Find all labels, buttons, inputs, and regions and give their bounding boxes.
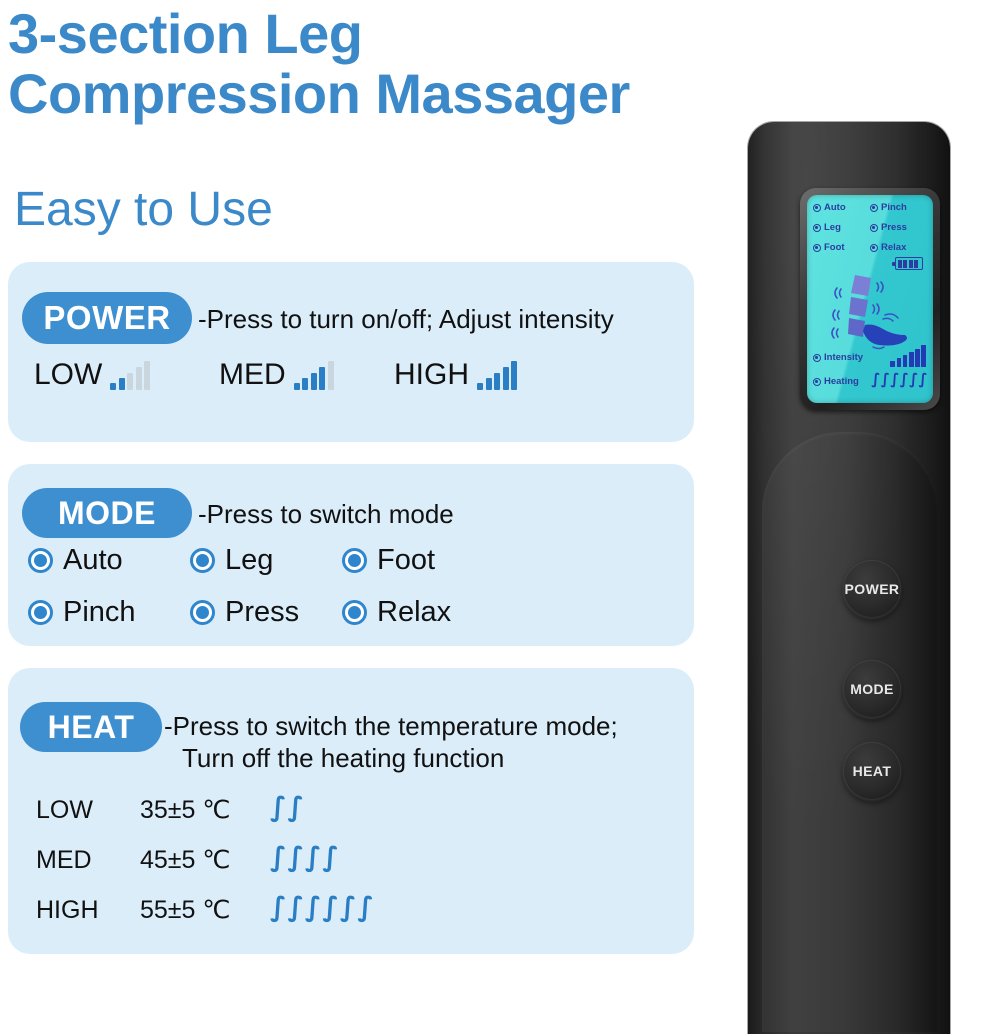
radio-icon (28, 600, 53, 625)
heat-temperature-value: 55±5 ℃ (140, 896, 230, 924)
lcd-mode-auto: Auto (813, 203, 846, 213)
lcd-heating-waves-icon: ∫∫∫∫∫∫ (871, 371, 928, 387)
radio-icon (870, 244, 878, 252)
intensity-high-bars (477, 360, 517, 390)
intensity-low-bars (110, 360, 150, 390)
mode-option-leg[interactable]: Leg (190, 546, 273, 575)
mode-badge[interactable]: MODE (22, 488, 192, 538)
heat-temperature-value: 35±5 ℃ (140, 796, 230, 824)
remote-lower-panel (762, 432, 938, 1032)
heat-temperature-value: 45±5 ℃ (140, 846, 230, 874)
lcd-heating-row: Heating (813, 377, 859, 387)
lcd-bezel: Auto Leg Foot Pinch Press Relax (800, 188, 940, 410)
leg-massage-illustration (821, 269, 929, 355)
lcd-mode-press: Press (870, 223, 907, 233)
heat-description: -Press to switch the temperature mode; T… (164, 710, 694, 774)
mode-option-label: Pinch (63, 598, 136, 627)
mode-option-press[interactable]: Press (190, 598, 299, 627)
radio-icon (813, 354, 821, 362)
radio-icon (190, 548, 215, 573)
mode-option-auto[interactable]: Auto (28, 546, 123, 575)
lcd-mode-label: Press (881, 223, 907, 233)
heat-row: HIGH 55±5 ℃ ∫∫∫∫∫∫ (36, 896, 436, 946)
lcd-intensity-label: Intensity (824, 353, 863, 363)
remote-mode-button[interactable]: MODE (843, 660, 901, 718)
intensity-med-bars (294, 360, 334, 390)
intensity-med-label: MED (219, 360, 286, 390)
lcd-mode-foot: Foot (813, 243, 845, 253)
heat-level-label: HIGH (36, 896, 99, 924)
heat-badge[interactable]: HEAT (20, 702, 162, 752)
intensity-level-med: MED (219, 360, 334, 390)
intensity-level-high: HIGH (394, 360, 517, 390)
intensity-levels: LOW MED HIGH (34, 360, 654, 404)
radio-icon (28, 548, 53, 573)
mode-option-label: Foot (377, 546, 435, 575)
heat-wave-icon: ∫∫∫∫ (270, 842, 340, 874)
mode-option-label: Leg (225, 546, 273, 575)
power-badge[interactable]: POWER (22, 292, 192, 344)
lcd-screen: Auto Leg Foot Pinch Press Relax (807, 195, 933, 403)
heat-level-label: LOW (36, 796, 93, 824)
intensity-level-low: LOW (34, 360, 150, 390)
lcd-mode-label: Relax (881, 243, 906, 253)
lcd-intensity-row: Intensity (813, 353, 863, 363)
radio-icon (342, 548, 367, 573)
lcd-mode-label: Pinch (881, 203, 907, 213)
mode-option-label: Auto (63, 546, 123, 575)
radio-icon (190, 600, 215, 625)
mode-option-foot[interactable]: Foot (342, 546, 435, 575)
lcd-mode-pinch: Pinch (870, 203, 907, 213)
radio-icon (813, 244, 821, 252)
mode-option-label: Press (225, 598, 299, 627)
heat-wave-icon: ∫∫∫∫∫∫ (270, 892, 375, 924)
mode-description: -Press to switch mode (198, 498, 454, 530)
lcd-mode-label: Foot (824, 243, 845, 253)
page-title: 3-section Leg Compression Massager (8, 4, 708, 124)
intensity-low-label: LOW (34, 360, 102, 390)
radio-icon (342, 600, 367, 625)
intensity-high-label: HIGH (394, 360, 469, 390)
lcd-mode-relax: Relax (870, 243, 906, 253)
heat-wave-icon: ∫∫ (270, 792, 305, 824)
lcd-mode-leg: Leg (813, 223, 841, 233)
remote-heat-button[interactable]: HEAT (843, 742, 901, 800)
power-description: -Press to turn on/off; Adjust intensity (198, 303, 614, 335)
radio-icon (870, 204, 878, 212)
heat-row: LOW 35±5 ℃ ∫∫ (36, 796, 436, 846)
section-subtitle: Easy to Use (14, 182, 273, 238)
mode-option-relax[interactable]: Relax (342, 598, 451, 627)
mode-option-label: Relax (377, 598, 451, 627)
lcd-intensity-bars (890, 345, 926, 367)
lcd-mode-label: Leg (824, 223, 841, 233)
remote-power-button[interactable]: POWER (843, 560, 901, 618)
heat-level-label: MED (36, 846, 92, 874)
mode-option-pinch[interactable]: Pinch (28, 598, 136, 627)
heat-row: MED 45±5 ℃ ∫∫∫∫ (36, 846, 436, 896)
radio-icon (870, 224, 878, 232)
lcd-mode-label: Auto (824, 203, 846, 213)
power-card (8, 262, 694, 442)
radio-icon (813, 224, 821, 232)
radio-icon (813, 204, 821, 212)
heat-description-line2: Turn off the heating function (182, 742, 694, 774)
lcd-heating-label: Heating (824, 377, 859, 387)
heat-levels-table: LOW 35±5 ℃ ∫∫ MED 45±5 ℃ ∫∫∫∫ HIGH 55±5 … (36, 796, 436, 946)
heat-description-line1: -Press to switch the temperature mode; (164, 711, 618, 741)
radio-icon (813, 378, 821, 386)
